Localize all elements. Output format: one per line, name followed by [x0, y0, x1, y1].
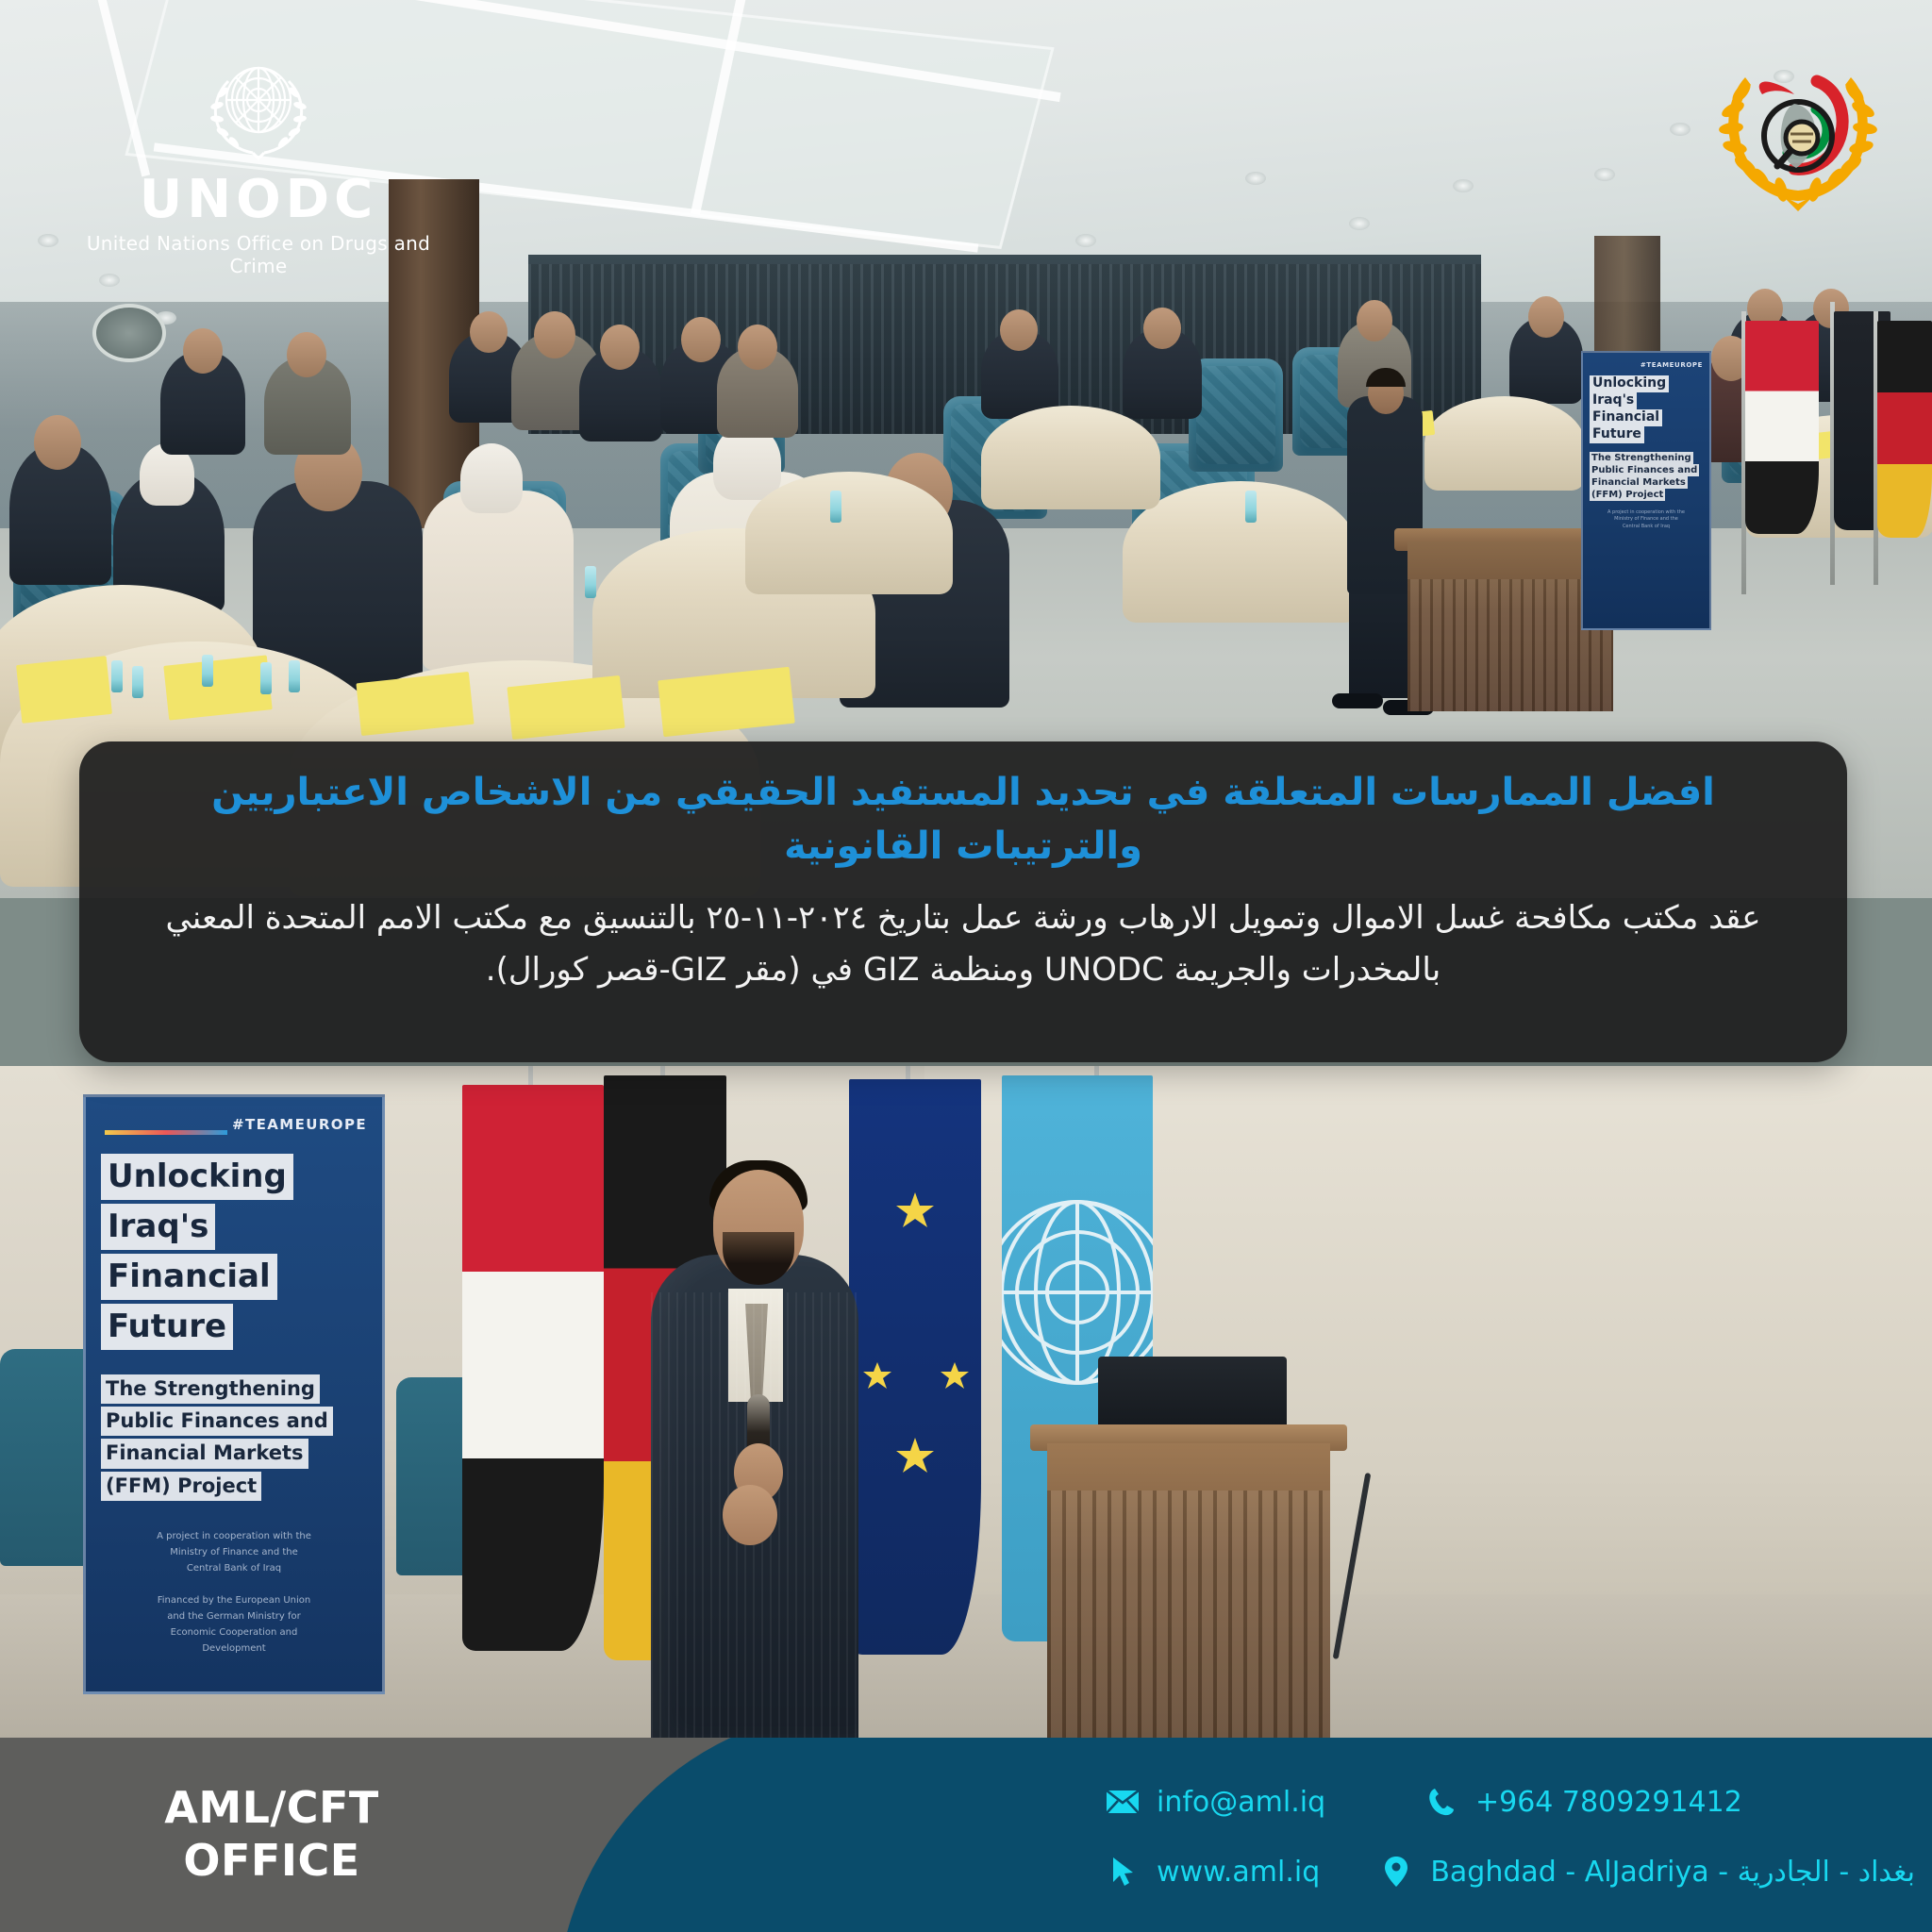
- ceiling-downlight: [1594, 168, 1615, 181]
- audience-person-head: [600, 325, 640, 370]
- unodc-logo: UNODC United Nations Office on Drugs and…: [60, 45, 457, 277]
- flag-iraq: [462, 1085, 604, 1651]
- audience-person-head: [460, 443, 523, 513]
- ceiling-downlight: [1245, 172, 1266, 185]
- audience-person-head: [470, 311, 508, 353]
- audience-person-head: [534, 311, 575, 358]
- rollup-subtitle: The Strengthening Public Finances and Fi…: [1590, 452, 1703, 501]
- water-bottle: [289, 660, 300, 692]
- water-bottle: [132, 666, 143, 698]
- rollup-fine-print: A project in cooperation with the Minist…: [101, 1528, 367, 1657]
- ceiling-downlight: [1670, 123, 1690, 136]
- event-text-panel: افضل الممارسات المتعلقة في تحديد المستفي…: [79, 741, 1847, 1062]
- water-bottle: [111, 660, 123, 692]
- contact-address-label: Baghdad - AlJadriya - بغداد - الجادرية: [1430, 1856, 1915, 1889]
- ceiling-downlight: [1453, 179, 1474, 192]
- water-bottle: [830, 491, 841, 523]
- audience-chair: [1189, 358, 1283, 472]
- top-speaker-shoe: [1332, 693, 1383, 708]
- wall-emblem-icon: [92, 304, 166, 362]
- table-handout: [163, 655, 272, 720]
- unodc-full-name: United Nations Office on Drugs and Crime: [60, 232, 457, 277]
- event-body-text: عقد مكتب مكافحة غسل الاموال وتمويل الاره…: [134, 892, 1792, 996]
- water-bottle: [202, 655, 213, 687]
- rollup-accent-rule: [105, 1130, 227, 1135]
- contact-address[interactable]: Baghdad - AlJadriya - بغداد - الجادرية: [1377, 1853, 1915, 1890]
- flag-germany: [1877, 321, 1932, 538]
- audience-person-head: [1357, 300, 1392, 341]
- top-speaker-legs: [1349, 585, 1415, 698]
- audience-person-head: [287, 332, 326, 377]
- water-bottle: [585, 566, 596, 598]
- poster-root: #TEAMEUROPE Unlocking Iraq's Financial F…: [0, 0, 1932, 1932]
- contact-email-label: info@aml.iq: [1157, 1786, 1325, 1819]
- aml-cft-office-emblem-icon: [1704, 36, 1892, 225]
- contact-phone-label: +964 7809291412: [1475, 1786, 1742, 1819]
- contact-website[interactable]: www.aml.iq: [1104, 1853, 1360, 1890]
- audience-person-head: [34, 415, 81, 470]
- audience-person-head: [1528, 296, 1564, 338]
- audience-person-head: [1143, 308, 1181, 349]
- cursor-icon: [1104, 1853, 1141, 1890]
- rollup-title: Unlocking Iraq's Financial Future: [1590, 375, 1703, 443]
- rollup-banner-top: #TEAMEUROPE Unlocking Iraq's Financial F…: [1581, 351, 1711, 630]
- water-bottle: [1245, 491, 1257, 523]
- eu-stars-icon: [849, 1079, 981, 1655]
- round-table: [981, 406, 1160, 509]
- audience-person-head: [738, 325, 777, 370]
- bottom-speaker-hand: [723, 1485, 777, 1545]
- rollup-fine-print: A project in cooperation with the Minist…: [1590, 509, 1703, 531]
- contact-website-label: www.aml.iq: [1157, 1856, 1320, 1889]
- unodc-acronym: UNODC: [60, 174, 457, 226]
- un-emblem-icon: [196, 45, 321, 170]
- ceiling-downlight: [1075, 234, 1096, 247]
- aml-cft-office-logo: [1704, 36, 1892, 225]
- rollup-banner-bottom: #TEAMEUROPE Unlocking Iraq's Financial F…: [83, 1094, 385, 1694]
- flag-iraq: [1745, 321, 1819, 534]
- event-headline: افضل الممارسات المتعلقة في تحديد المستفي…: [134, 766, 1792, 874]
- phone-icon: [1423, 1783, 1460, 1821]
- audience-person-head: [681, 317, 721, 362]
- aml-office-name-line1: AML/CFT: [149, 1781, 394, 1834]
- podium-slats: [1047, 1491, 1330, 1738]
- audience-person-head: [1000, 309, 1038, 351]
- table-handout: [16, 656, 112, 724]
- speaker-podium-photo: #TEAMEUROPE Unlocking Iraq's Financial F…: [0, 1066, 1932, 1738]
- rollup-hashtag: #TEAMEUROPE: [1590, 361, 1703, 369]
- rollup-title: Unlocking Iraq's Financial Future: [101, 1154, 367, 1354]
- contact-row: info@aml.iq +964 7809291412: [1104, 1783, 1915, 1821]
- contact-phone[interactable]: +964 7809291412: [1423, 1783, 1742, 1821]
- footer-bar: AML/CFT OFFICE info@aml.iq: [0, 1738, 1932, 1932]
- envelope-icon: [1104, 1783, 1141, 1821]
- aml-office-name: AML/CFT OFFICE: [149, 1781, 394, 1887]
- aml-office-name-line2: OFFICE: [149, 1834, 394, 1887]
- audience-person: [423, 491, 574, 670]
- flag-european-union: [849, 1079, 981, 1655]
- water-bottle: [260, 662, 272, 694]
- footer-contacts: info@aml.iq +964 7809291412: [1104, 1783, 1915, 1923]
- contact-email[interactable]: info@aml.iq: [1104, 1783, 1406, 1821]
- audience-person-head: [183, 328, 223, 374]
- contact-row: www.aml.iq Baghdad - AlJadriya - بغداد -…: [1104, 1853, 1915, 1890]
- location-pin-icon: [1377, 1853, 1415, 1890]
- round-table: [745, 472, 953, 594]
- ceiling-downlight: [1349, 217, 1370, 230]
- rollup-subtitle: The Strengthening Public Finances and Fi…: [101, 1374, 367, 1505]
- ceiling-downlight: [38, 234, 58, 247]
- round-table: [1424, 396, 1585, 491]
